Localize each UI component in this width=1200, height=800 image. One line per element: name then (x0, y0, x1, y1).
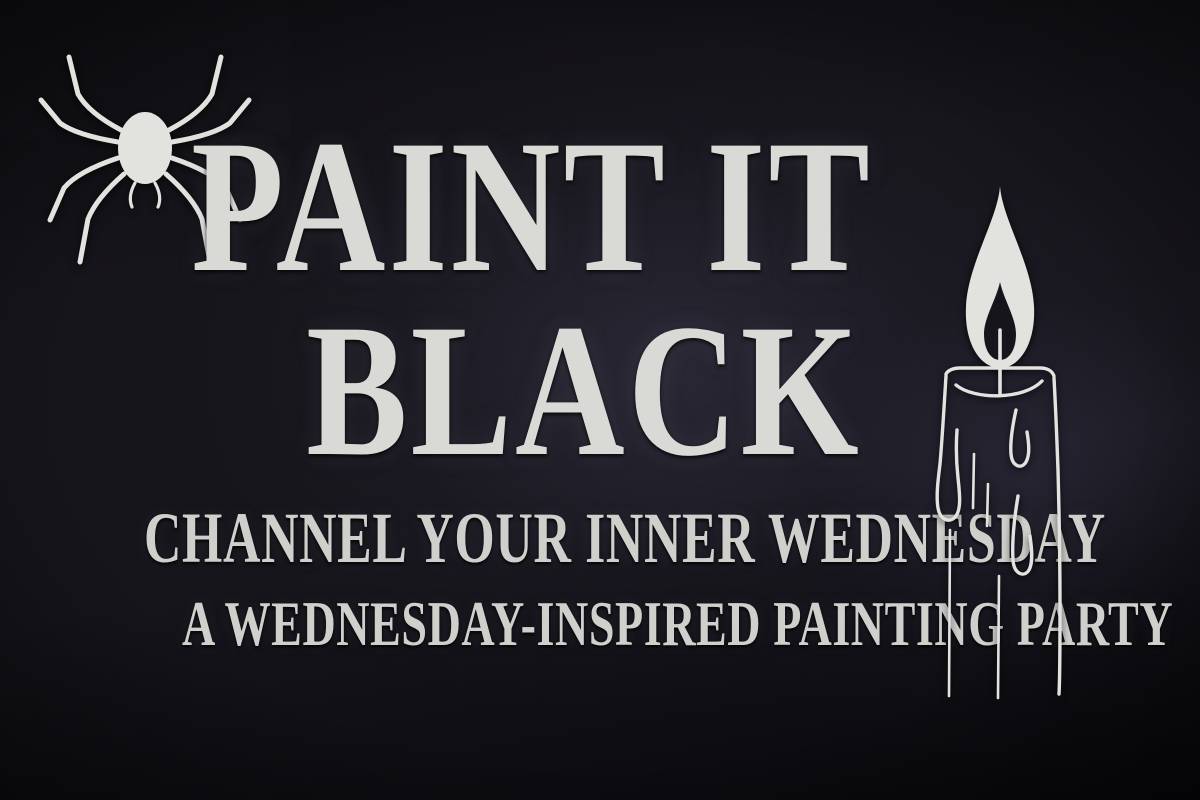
page-title-line-2: BLACK (104, 296, 1064, 486)
subtitle-line-2: A WEDNESDAY-INSPIRED PAINTING PARTY (182, 592, 1046, 656)
subtitle-line-1: CHANNEL YOUR INNER WEDNESDAY (144, 502, 1008, 574)
page-title-line-1: PAINT IT (52, 112, 1012, 302)
poster-canvas: PAINT IT BLACK CHANNEL YOUR INNER WEDNES… (0, 0, 1200, 800)
poster-text-stack: PAINT IT BLACK CHANNEL YOUR INNER WEDNES… (0, 0, 1200, 800)
